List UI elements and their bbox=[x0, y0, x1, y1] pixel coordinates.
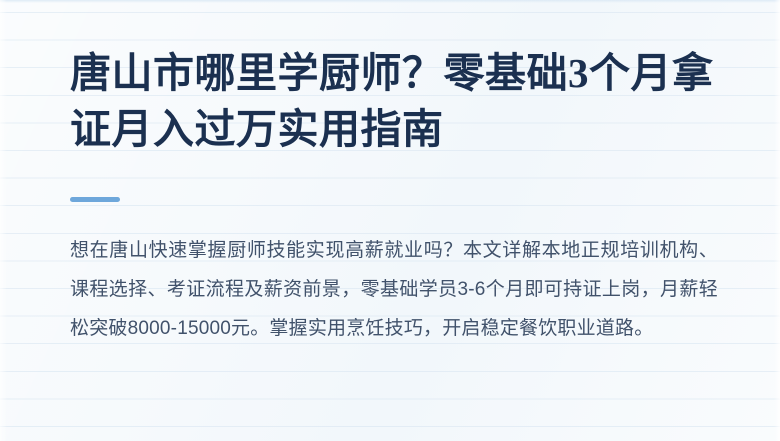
article-title: 唐山市哪里学厨师？零基础3个月拿证月入过万实用指南 bbox=[70, 45, 718, 157]
right-edge-highlight bbox=[774, 0, 780, 441]
cover-content: 唐山市哪里学厨师？零基础3个月拿证月入过万实用指南 想在唐山快速掌握厨师技能实现… bbox=[70, 0, 718, 441]
left-edge-highlight bbox=[0, 0, 7, 441]
accent-divider bbox=[70, 197, 120, 202]
article-cover-card: 唐山市哪里学厨师？零基础3个月拿证月入过万实用指南 想在唐山快速掌握厨师技能实现… bbox=[0, 0, 780, 441]
article-summary: 想在唐山快速掌握厨师技能实现高薪就业吗？本文详解本地正规培训机构、课程选择、考证… bbox=[70, 231, 718, 348]
